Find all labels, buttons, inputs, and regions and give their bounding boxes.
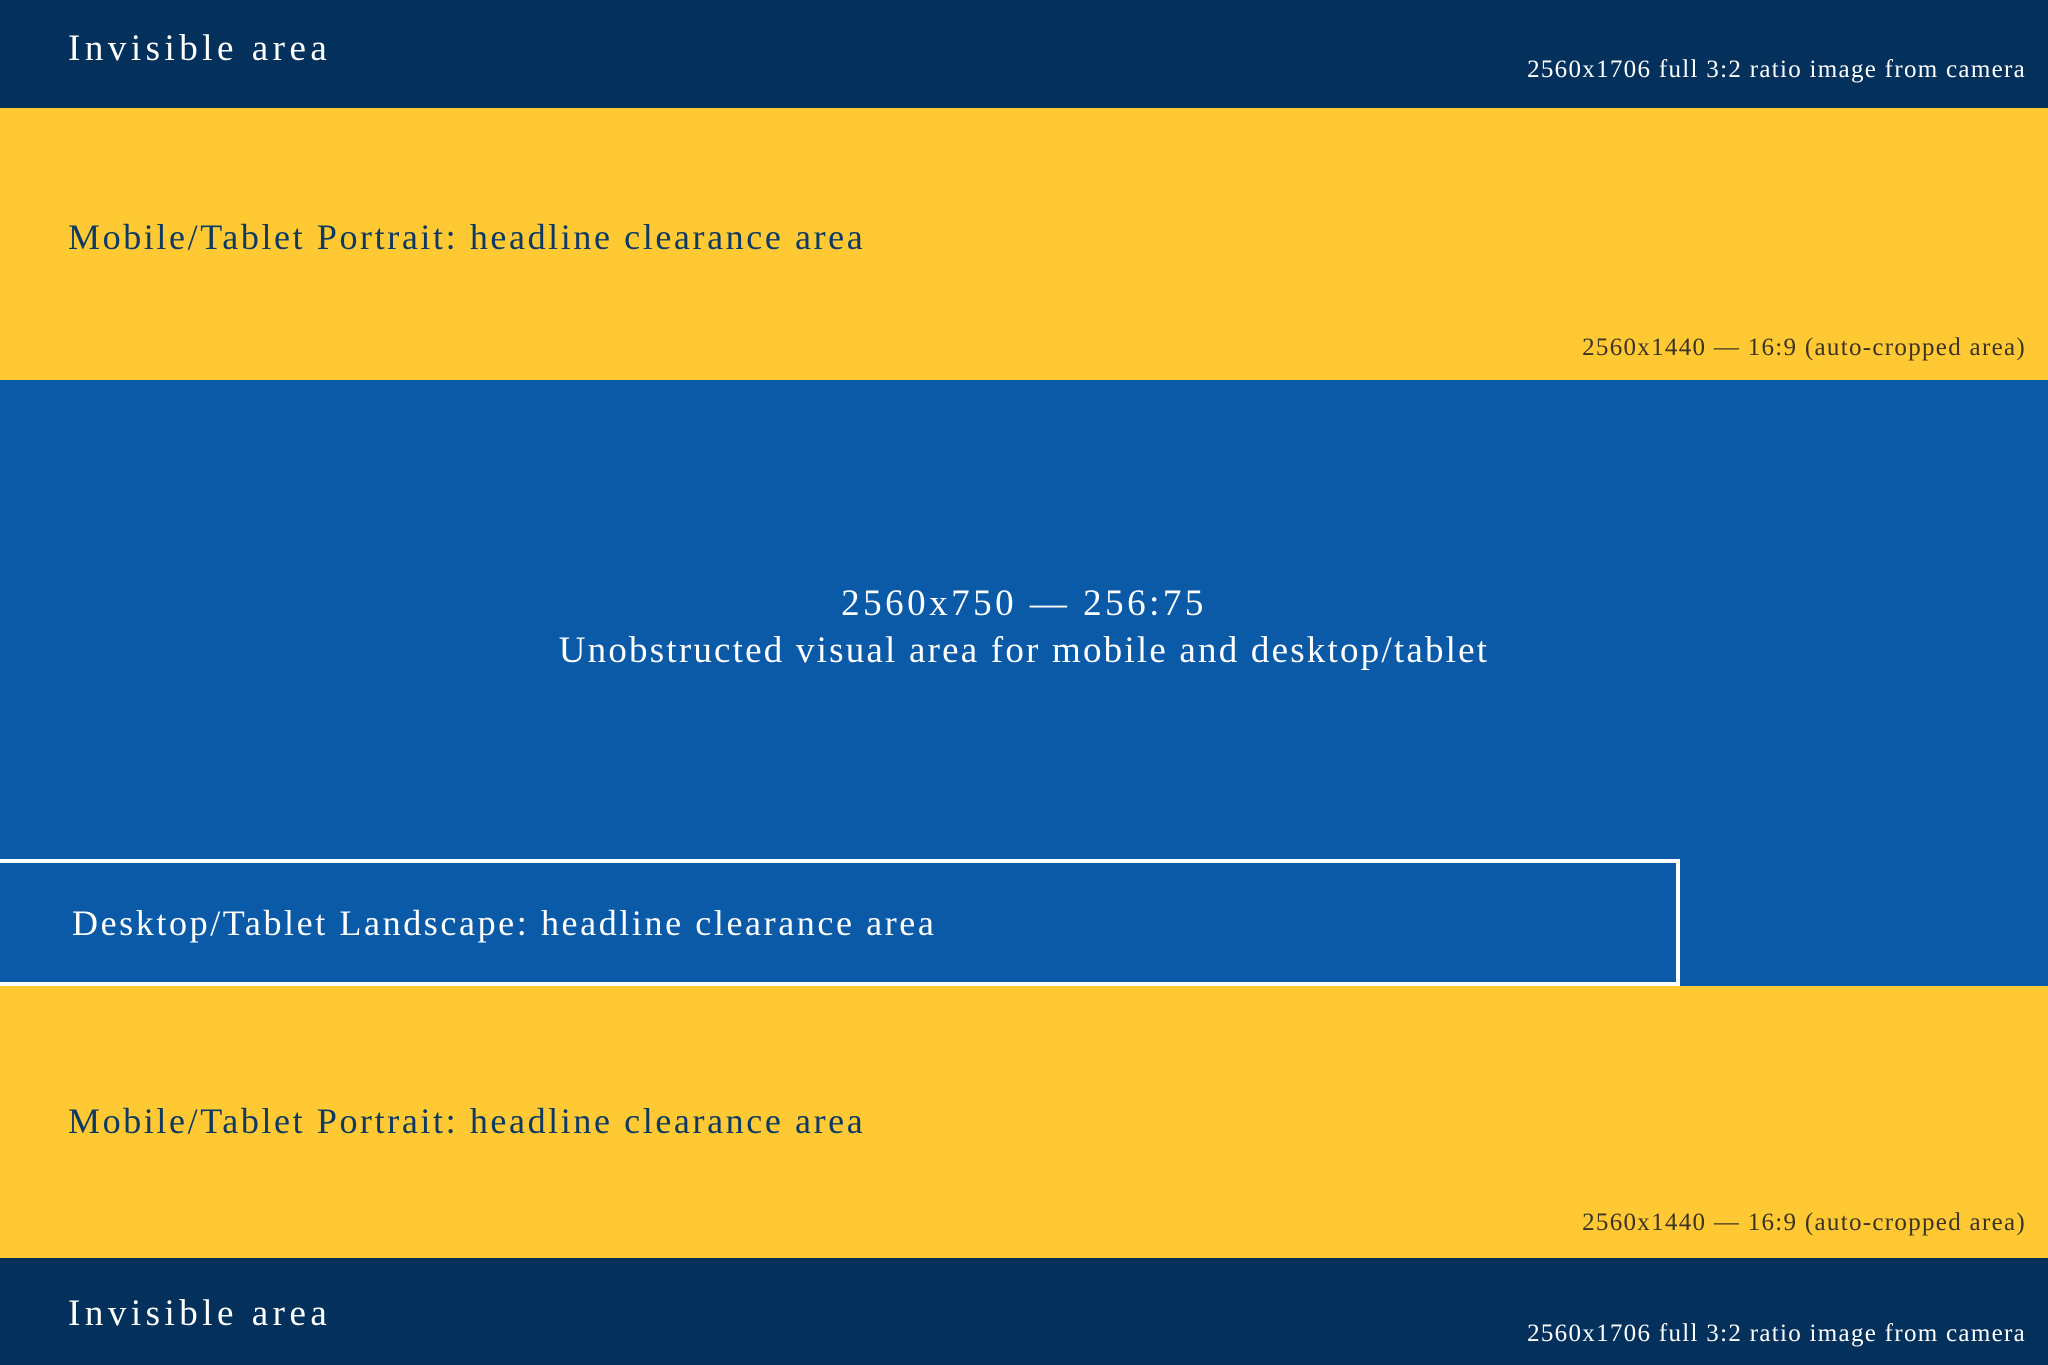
invisible-area-ratio-note-top: 2560x1706 full 3:2 ratio image from came… [1527, 56, 2026, 84]
invisible-area-title-top: Invisible area [68, 27, 331, 70]
auto-cropped-ratio-note-top: 2560x1440 — 16:9 (auto-cropped area) [1582, 334, 2026, 362]
mobile-portrait-clearance-title-top: Mobile/Tablet Portrait: headline clearan… [68, 216, 865, 258]
safe-area-dimensions: 2560x750 — 256:75 [0, 580, 2048, 627]
invisible-area-title-bottom: Invisible area [68, 1292, 331, 1335]
safe-area-description: Unobstructed visual area for mobile and … [0, 627, 2048, 674]
invisible-area-ratio-note-bottom: 2560x1706 full 3:2 ratio image from came… [1527, 1320, 2026, 1348]
safe-area-caption: 2560x750 — 256:75 Unobstructed visual ar… [0, 580, 2048, 675]
desktop-landscape-clearance-box: Desktop/Tablet Landscape: headline clear… [0, 859, 1680, 986]
auto-cropped-ratio-note-bottom: 2560x1440 — 16:9 (auto-cropped area) [1582, 1209, 2026, 1237]
mobile-portrait-clearance-title-bottom: Mobile/Tablet Portrait: headline clearan… [68, 1100, 865, 1142]
desktop-landscape-clearance-label: Desktop/Tablet Landscape: headline clear… [72, 902, 936, 944]
image-safe-area-guide: Invisible area 2560x1706 full 3:2 ratio … [0, 0, 2048, 1365]
